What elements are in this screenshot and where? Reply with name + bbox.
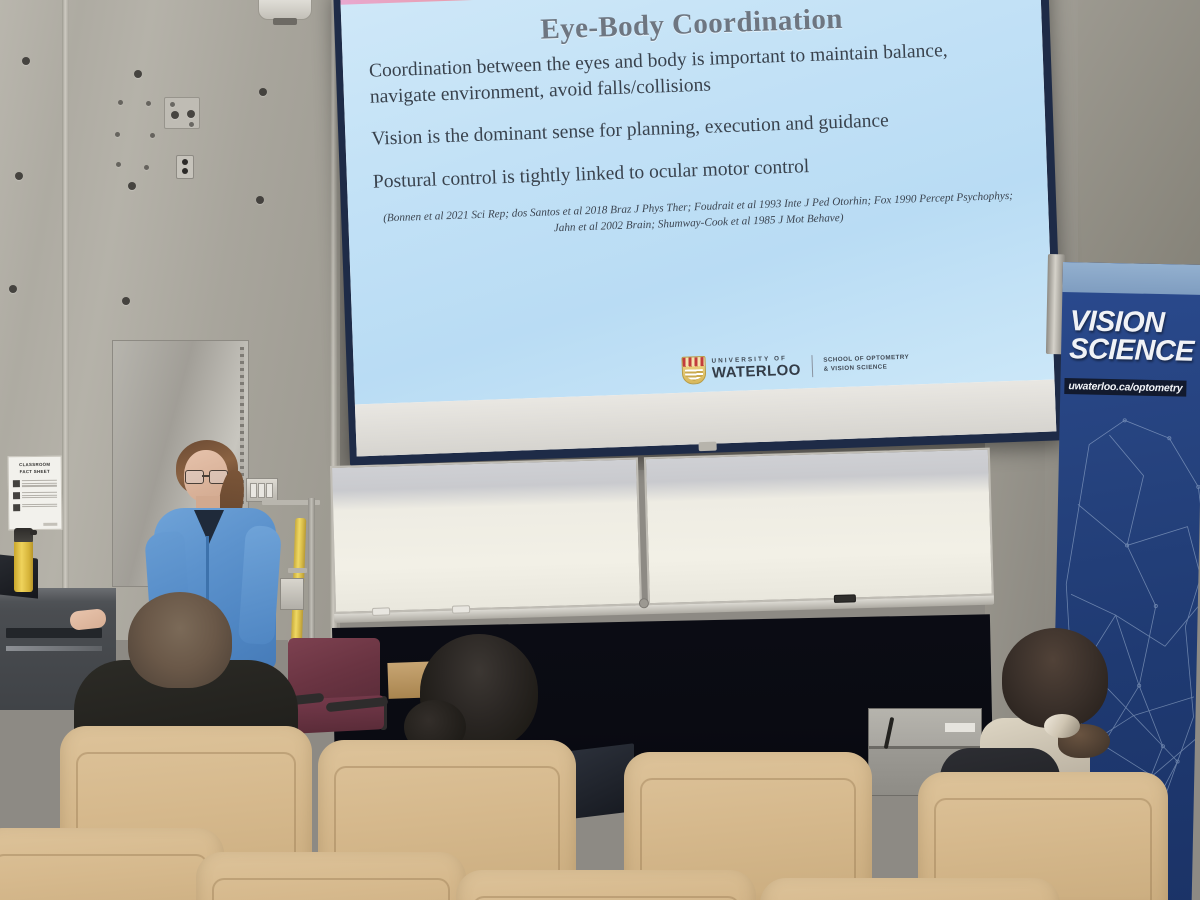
presenter-placket xyxy=(206,536,209,602)
ceiling-speaker-icon xyxy=(258,0,312,20)
wall-seam xyxy=(62,0,69,640)
hair-scrunchie xyxy=(1044,714,1080,738)
auditorium-seat xyxy=(196,852,466,900)
banner-title-line2: SCIENCE xyxy=(1069,336,1200,367)
auditorium-seat xyxy=(0,828,224,900)
whiteboard-panel-left xyxy=(330,457,642,614)
presentation-slide: Eye-Body Coordination Coordination betwe… xyxy=(340,0,1054,404)
whiteboard-group xyxy=(330,448,994,636)
wall-tie-hole xyxy=(9,285,17,293)
chair-backrest xyxy=(288,638,380,700)
fact-sheet-rows xyxy=(13,480,57,511)
power-outlet-icon xyxy=(176,155,194,179)
junction-box xyxy=(280,578,304,610)
whiteboard-marker[interactable] xyxy=(452,605,470,613)
wall-tie-hole xyxy=(22,57,30,65)
auditorium-seat xyxy=(456,870,756,900)
slide-citation: (Bonnen et al 2021 Sci Rep; dos Santos e… xyxy=(374,188,1023,243)
wall-tie-hole xyxy=(115,132,120,137)
wall-tie-hole xyxy=(15,172,23,180)
water-bottle xyxy=(14,540,33,592)
fact-sheet-title-line1: CLASSROOM xyxy=(13,462,57,469)
logo-divider xyxy=(811,355,813,377)
banner-url: uwaterloo.ca/optometry xyxy=(1064,378,1186,397)
waterloo-crest-icon xyxy=(681,356,706,385)
wall-tie-hole xyxy=(128,182,136,190)
wall-tie-hole xyxy=(144,165,149,170)
podium-handle xyxy=(6,646,102,651)
equipment-cord xyxy=(884,717,895,749)
glasses-icon xyxy=(185,470,229,482)
fact-sheet-title-line2: FACT SHEET xyxy=(13,468,57,475)
wall-tie-hole xyxy=(259,88,267,96)
classroom-fact-sheet-sign: CLASSROOM FACT SHEET xyxy=(8,456,63,531)
screen-center-nub xyxy=(698,442,716,452)
wall-tie-hole xyxy=(134,70,142,78)
audience-head-right xyxy=(1002,628,1108,728)
slide-content: Eye-Body Coordination Coordination betwe… xyxy=(341,0,1055,404)
wall-tie-hole xyxy=(150,133,155,138)
water-bottle-cap xyxy=(14,528,33,542)
logo-university-big: WATERLOO xyxy=(712,363,801,381)
podium-slot xyxy=(6,628,102,638)
wall-tie-hole xyxy=(146,101,151,106)
wall-tie-hole xyxy=(118,100,123,105)
slide-paragraph-3: Postural control is tightly linked to oc… xyxy=(373,147,1022,196)
whiteboard-marker[interactable] xyxy=(372,607,390,615)
wall-tie-hole xyxy=(122,297,130,305)
banner-top-bar xyxy=(1062,262,1200,295)
waterloo-wordmark: UNIVERSITY OF WATERLOO xyxy=(711,355,800,380)
cable-clip xyxy=(288,568,307,573)
logo-school-block: SCHOOL OF OPTOMETRY & VISION SCIENCE xyxy=(823,354,909,374)
whiteboard-eraser[interactable] xyxy=(834,594,856,603)
banner-title: VISION SCIENCE xyxy=(1069,308,1200,366)
auditorium-seat xyxy=(760,878,1060,900)
wall-tie-hole xyxy=(116,162,121,167)
slide-paragraph-2: Vision is the dominant sense for plannin… xyxy=(371,104,1020,153)
wall-tie-hole xyxy=(256,196,264,204)
equipment-label xyxy=(945,723,975,732)
projection-screen: Eye-Body Coordination Coordination betwe… xyxy=(333,0,1065,466)
lecture-hall-scene: CLASSROOM FACT SHEET Eye-Body Coordinati… xyxy=(0,0,1200,900)
whiteboard-panel-right xyxy=(644,448,994,606)
audience-head-left xyxy=(128,592,232,688)
wall-mount-plate xyxy=(164,97,200,129)
logo-school-line2: & VISION SCIENCE xyxy=(824,363,910,375)
